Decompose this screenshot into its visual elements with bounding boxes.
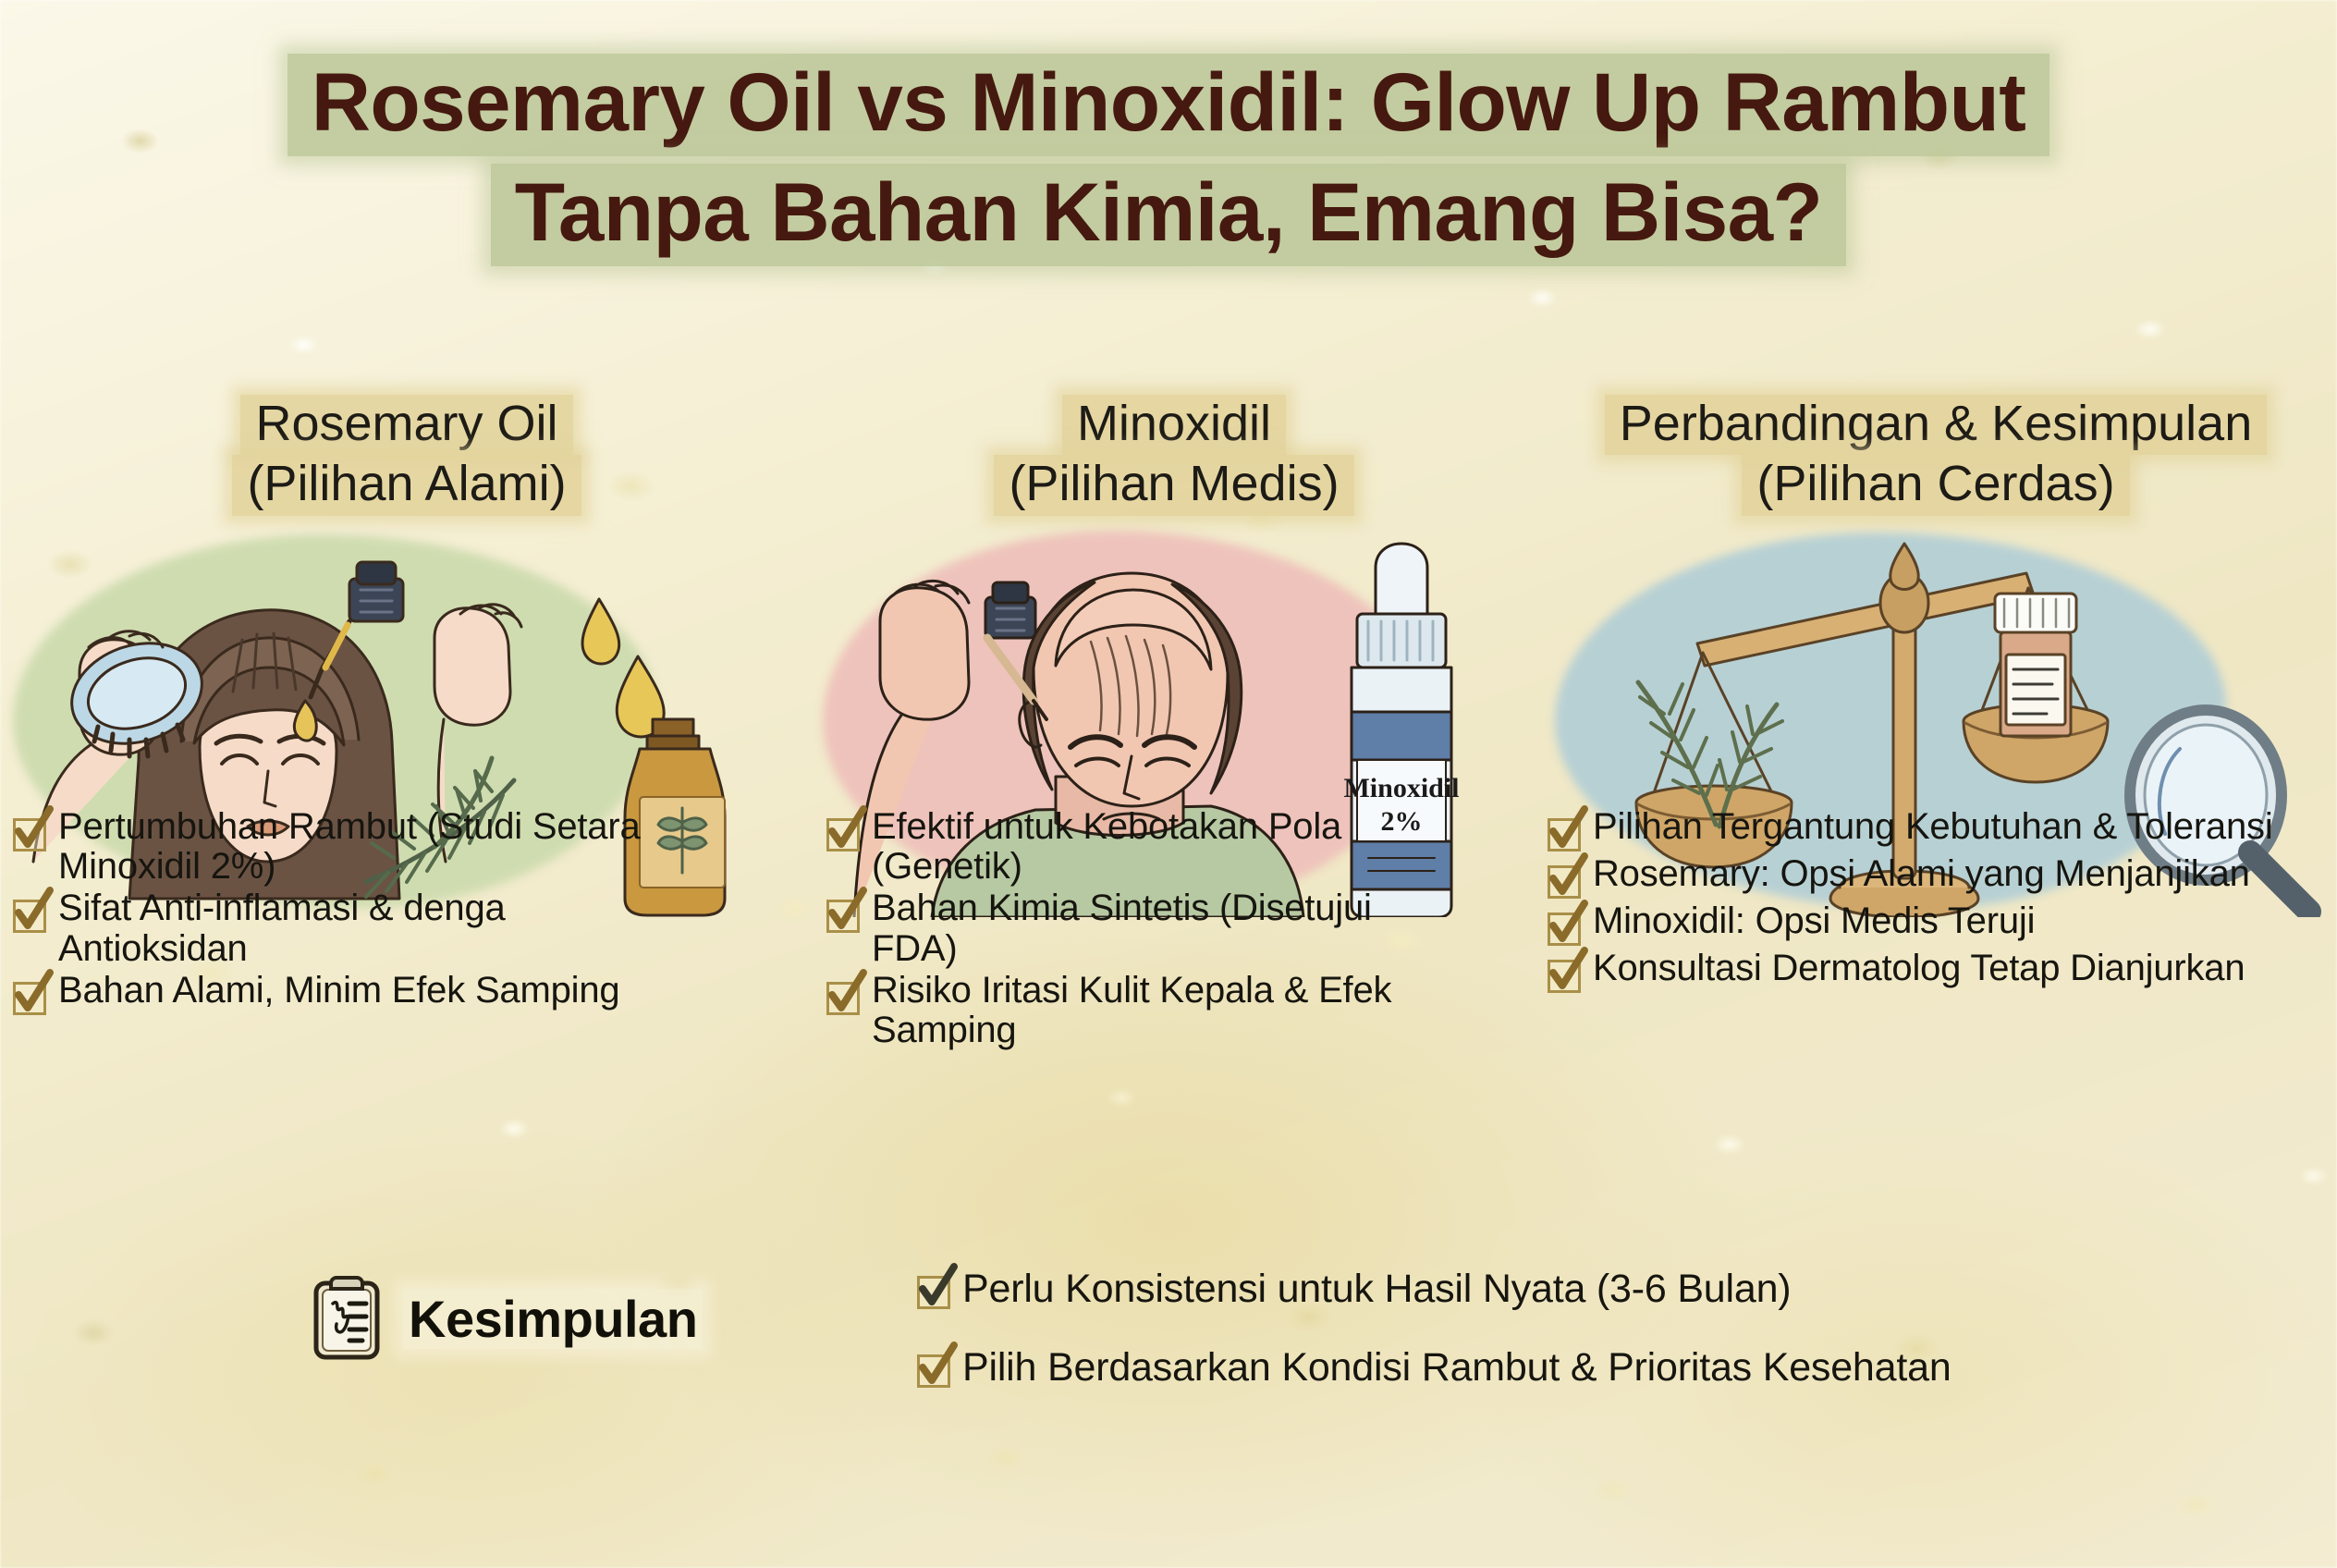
- column-heading-rosemary-line2: (Pilihan Alami): [232, 455, 581, 515]
- comparison-columns: Rosemary Oil (Pilihan Alami): [0, 393, 2337, 1253]
- list-item: Bahan Kimia Sintetis (Disetujui FDA): [825, 888, 1529, 968]
- column-heading-perbandingan: Perbandingan & Kesimpulan (Pilihan Cerda…: [1535, 393, 2337, 516]
- list-item-label: Bahan Alami, Minim Efek Samping: [58, 971, 619, 1011]
- clipboard-icon: [311, 1274, 383, 1363]
- list-item-label: Minoxidil: Opsi Medis Teruji: [1593, 901, 2035, 941]
- list-item-label: Rosemary: Opsi Alami yang Menjanjikan: [1593, 854, 2250, 894]
- list-item-label: Pilihan Tergantung Kebutuhan & Toleransi: [1593, 807, 2273, 847]
- list-item-label: Risiko Iritasi Kulit Kepala & Efek Sampi…: [872, 971, 1463, 1050]
- column-heading-minoxidil: Minoxidil (Pilihan Medis): [814, 393, 1535, 516]
- checkbox-checked-icon: [11, 896, 49, 934]
- title-line-2: Tanpa Bahan Kimia, Emang Bisa?: [491, 164, 1847, 266]
- list-item: Sifat Anti-inflamasi & denga Antioksidan: [11, 888, 808, 968]
- checkbox-checked-icon: [915, 1351, 953, 1389]
- list-item-label: Efektif untuk Kebotakan Pola (Genetik): [872, 807, 1463, 887]
- list-item-label: Bahan Kimia Sintetis (Disetujui FDA): [872, 888, 1463, 968]
- list-item-label: Pertumbuhan Rambut (Studi Setara Minoxid…: [58, 807, 696, 887]
- column-heading-rosemary: Rosemary Oil (Pilihan Alami): [0, 393, 814, 516]
- bullet-list-minoxidil: Efektif untuk Kebotakan Pola (Genetik) B…: [814, 807, 1535, 1052]
- list-item-label: Pilih Berdasarkan Kondisi Rambut & Prior…: [962, 1347, 1952, 1389]
- checkbox-checked-icon: [825, 896, 863, 934]
- column-perbandingan: Perbandingan & Kesimpulan (Pilihan Cerda…: [1535, 393, 2337, 1253]
- list-item-label: Sifat Anti-inflamasi & denga Antioksidan: [58, 888, 696, 968]
- bottle-label-line1: Minoxidil: [1343, 773, 1459, 803]
- checkbox-checked-icon: [1546, 862, 1584, 900]
- column-heading-rosemary-line1: Rosemary Oil: [240, 395, 572, 455]
- conclusion-section: Kesimpulan Perlu Konsistensi untuk Hasil…: [0, 1268, 2337, 1546]
- list-item: Rosemary: Opsi Alami yang Menjanjikan: [1546, 854, 2331, 900]
- title-line-1: Rosemary Oil vs Minoxidil: Glow Up Rambu…: [288, 54, 2050, 156]
- list-item: Efektif untuk Kebotakan Pola (Genetik): [825, 807, 1529, 887]
- list-item: Pertumbuhan Rambut (Studi Setara Minoxid…: [11, 807, 808, 887]
- checkbox-checked-icon: [11, 978, 49, 1016]
- list-item: Bahan Alami, Minim Efek Samping: [11, 971, 808, 1016]
- bullet-list-perbandingan: Pilihan Tergantung Kebutuhan & Toleransi…: [1535, 807, 2337, 996]
- column-minoxidil: Minoxidil (Pilihan Medis): [814, 393, 1535, 1253]
- checkbox-checked-icon: [915, 1272, 953, 1310]
- list-item: Minoxidil: Opsi Medis Teruji: [1546, 901, 2331, 947]
- column-heading-minoxidil-line2: (Pilihan Medis): [994, 455, 1353, 515]
- checkbox-checked-icon: [825, 978, 863, 1016]
- checkbox-checked-icon: [11, 815, 49, 852]
- list-item-label: Perlu Konsistensi untuk Hasil Nyata (3-6…: [962, 1268, 1791, 1310]
- conclusion-rows: Perlu Konsistensi untuk Hasil Nyata (3-6…: [915, 1268, 1952, 1426]
- checkbox-checked-icon: [1546, 909, 1584, 947]
- infographic-page: Rosemary Oil vs Minoxidil: Glow Up Rambu…: [0, 0, 2337, 1568]
- list-item: Perlu Konsistensi untuk Hasil Nyata (3-6…: [915, 1268, 1952, 1310]
- column-heading-minoxidil-line1: Minoxidil: [1062, 395, 1286, 455]
- list-item: Pilihan Tergantung Kebutuhan & Toleransi: [1546, 807, 2331, 852]
- column-heading-perbandingan-line1: Perbandingan & Kesimpulan: [1605, 395, 2267, 455]
- conclusion-header: Kesimpulan: [311, 1274, 703, 1363]
- conclusion-title: Kesimpulan: [403, 1289, 703, 1349]
- bullet-list-rosemary: Pertumbuhan Rambut (Studi Setara Minoxid…: [0, 807, 814, 1018]
- column-heading-perbandingan-line2: (Pilihan Cerdas): [1742, 455, 2129, 515]
- checkbox-checked-icon: [825, 815, 863, 852]
- page-title: Rosemary Oil vs Minoxidil: Glow Up Rambu…: [0, 54, 2337, 274]
- list-item: Risiko Iritasi Kulit Kepala & Efek Sampi…: [825, 971, 1529, 1050]
- column-rosemary-oil: Rosemary Oil (Pilihan Alami): [0, 393, 814, 1253]
- list-item: Pilih Berdasarkan Kondisi Rambut & Prior…: [915, 1347, 1952, 1389]
- checkbox-checked-icon: [1546, 956, 1584, 994]
- list-item-label: Konsultasi Dermatolog Tetap Dianjurkan: [1593, 949, 2245, 988]
- list-item: Konsultasi Dermatolog Tetap Dianjurkan: [1546, 949, 2331, 994]
- checkbox-checked-icon: [1546, 815, 1584, 852]
